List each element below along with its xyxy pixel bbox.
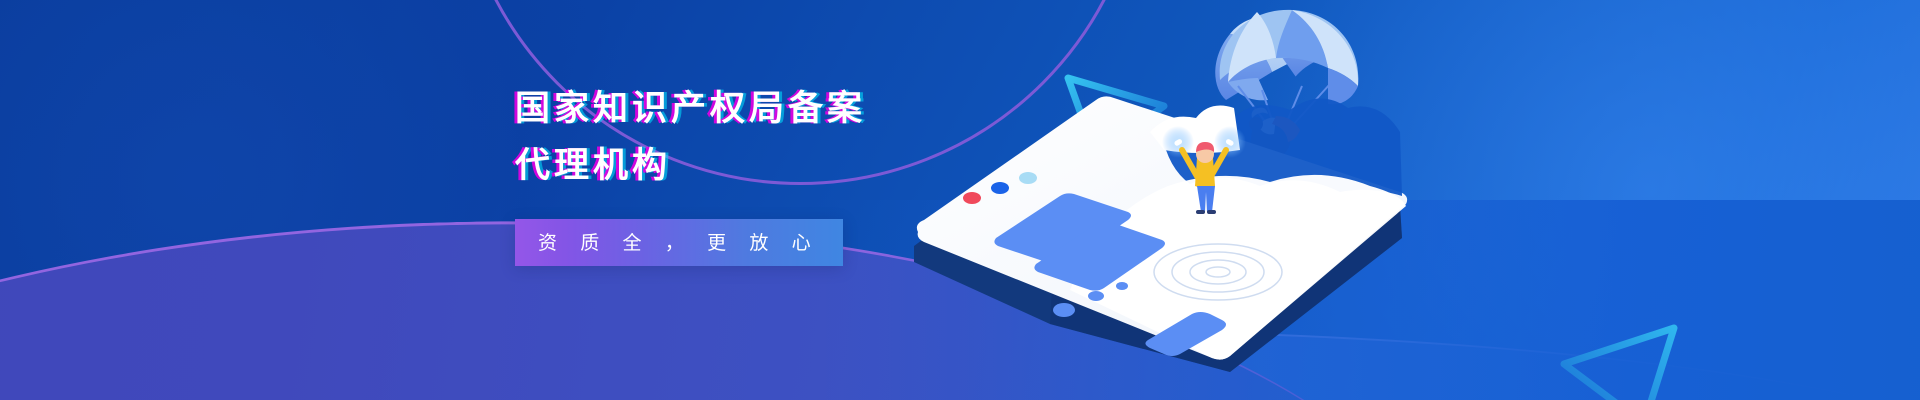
tagline-badge: 资 质 全 ， 更 放 心 [515, 219, 843, 266]
headline-line-2: 代理机构 [515, 137, 1035, 194]
promo-banner: 国家知识产权局备案 代理机构 资 质 全 ， 更 放 心 [0, 0, 1920, 400]
headline-line-1: 国家知识产权局备案 [515, 80, 1035, 137]
banner-copy: 国家知识产权局备案 代理机构 资 质 全 ， 更 放 心 [515, 80, 1035, 266]
